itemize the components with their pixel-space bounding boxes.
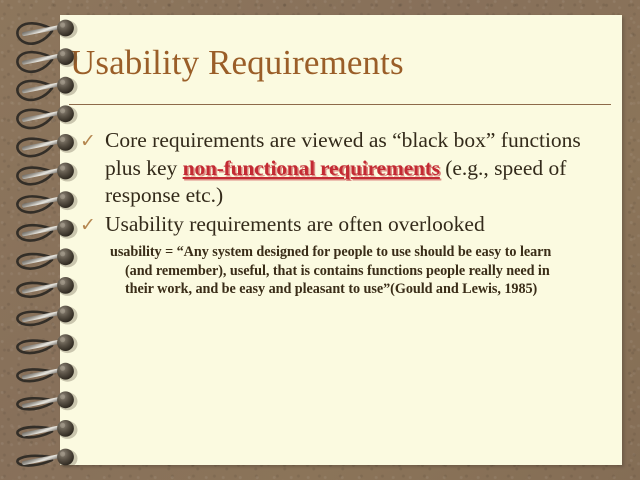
spiral-wire <box>24 284 60 291</box>
spiral-coil <box>17 398 52 409</box>
spiral-coil <box>17 254 52 269</box>
spiral-coil <box>17 341 52 353</box>
spiral-coil <box>17 225 52 240</box>
bullet-text-usability: Usability requirements are often overloo… <box>105 212 485 236</box>
spiral-coil <box>17 369 52 381</box>
spiral-coil <box>17 110 52 128</box>
title-divider <box>69 104 611 105</box>
spiral-coil <box>17 427 52 437</box>
spiral-coil <box>17 312 52 325</box>
bullet-item-usability-requirements: ✓ Usability requirements are often overl… <box>60 211 622 239</box>
checkmark-bullet-icon: ✓ <box>80 128 96 156</box>
usability-definition-paragraph: usability = “Any system designed for peo… <box>110 243 575 299</box>
spiral-coil <box>17 139 52 156</box>
spiral-wire <box>24 313 60 320</box>
presentation-slide: Usability Requirements ✓ Core requiremen… <box>0 0 640 480</box>
spiral-coil <box>17 81 52 100</box>
spiral-wire <box>24 199 60 206</box>
spiral-wire <box>24 113 60 120</box>
spiral-wire <box>24 399 60 406</box>
spiral-wire <box>24 141 60 148</box>
spiral-coil <box>17 283 52 297</box>
spiral-coil <box>17 52 52 72</box>
bullet-item-core-requirements: ✓ Core requirements are viewed as “black… <box>60 127 622 210</box>
spiral-wire <box>24 56 60 63</box>
spiral-coil <box>17 23 52 43</box>
checkmark-bullet-icon: ✓ <box>80 212 96 240</box>
spiral-coil <box>17 168 52 185</box>
spiral-wire <box>24 170 60 177</box>
spiral-coil <box>17 456 52 466</box>
spiral-wire <box>24 27 60 34</box>
spiral-wire <box>24 342 60 349</box>
page-title: Usability Requirements <box>70 41 610 85</box>
spiral-wire <box>24 256 60 263</box>
notebook-page: Usability Requirements ✓ Core requiremen… <box>60 15 622 465</box>
slide-body: ✓ Core requirements are viewed as “black… <box>60 127 622 299</box>
spiral-wire <box>24 427 60 434</box>
spiral-coil <box>17 196 52 212</box>
spiral-wire <box>24 456 60 463</box>
spiral-wire <box>24 227 60 234</box>
spiral-wire <box>24 370 60 377</box>
emphasis-non-functional-requirements: non-functional requirements <box>183 156 440 180</box>
spiral-wire <box>24 84 60 91</box>
